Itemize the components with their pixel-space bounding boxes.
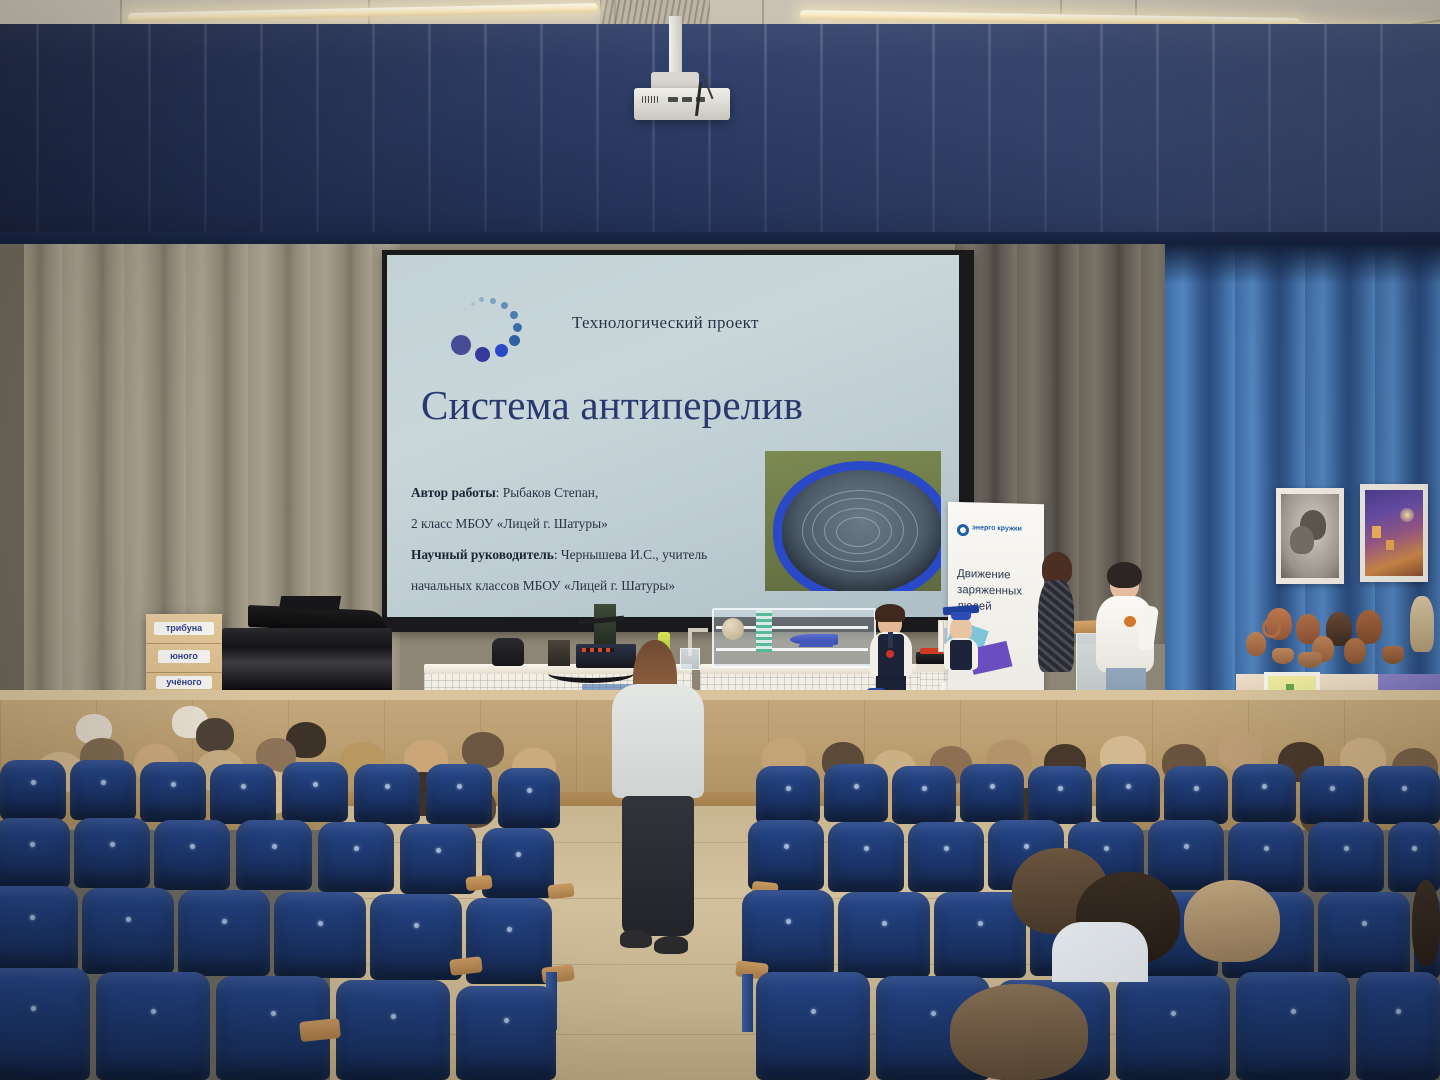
audience-seat[interactable] (824, 764, 888, 822)
audience-seat[interactable] (274, 892, 366, 978)
audience-seat[interactable] (82, 888, 174, 974)
water-basin (773, 461, 941, 591)
audience-shoulder-foreground (1052, 922, 1148, 982)
audience-seat[interactable] (370, 894, 462, 980)
spiral-dots-logo (445, 297, 529, 369)
clay-jug (1344, 638, 1366, 664)
painting-window-glow (1372, 526, 1381, 538)
kettle (492, 638, 524, 666)
audience-seat[interactable] (960, 764, 1024, 822)
audience-head-foreground (1412, 880, 1440, 966)
supervisor-value: Чернышева И.С., учитель (561, 547, 707, 562)
aisle-person-shoe (654, 936, 688, 954)
seat-armrest (547, 883, 574, 900)
artwork-pencil-portrait (1276, 488, 1344, 584)
artwork-night-street-painting (1360, 484, 1428, 582)
seat-armrest (299, 1018, 341, 1042)
grand-piano (222, 628, 392, 690)
wind-tunnel-rail (716, 648, 868, 651)
audience-seat[interactable] (748, 820, 824, 890)
audience-seat[interactable] (1028, 766, 1092, 824)
projection-screen: Технологический проект Система антиперел… (387, 255, 959, 617)
coffee-machine (548, 640, 570, 666)
stage-curtain-blue-right (1165, 244, 1440, 714)
3d-printer-indicator-lights (582, 648, 614, 652)
clay-pot (1246, 632, 1266, 656)
printer-cable (548, 664, 634, 683)
tap-fixture (688, 628, 708, 632)
audience-seat[interactable] (140, 762, 206, 822)
banner-logo-mark (960, 527, 966, 533)
piano-music-stand (279, 596, 341, 610)
audience-seat[interactable] (400, 824, 476, 894)
slide-kicker: Технологический проект (572, 313, 759, 333)
audience-seat[interactable] (426, 764, 492, 824)
projector (634, 88, 730, 120)
audience-seat[interactable] (318, 822, 394, 892)
aisle-person-trousers (622, 796, 694, 936)
banner-brand: энерго кружки (972, 524, 1032, 534)
audience-seat[interactable] (892, 766, 956, 824)
audience-seat[interactable] (1368, 766, 1440, 824)
audience-seat[interactable] (1308, 822, 1384, 892)
aisle-person-shirt (612, 684, 704, 798)
slide-body: Автор работы: Рыбаков Степан, 2 класс МБ… (411, 477, 767, 601)
audience-seat[interactable] (0, 968, 90, 1080)
staff-body (1038, 580, 1074, 672)
graduation-cap-crown (951, 612, 971, 620)
audience-seat[interactable] (756, 972, 870, 1080)
green-coil (756, 610, 772, 652)
painting-window-glow (1386, 540, 1394, 550)
author-class: 2 класс МБОУ «Лицей г. Шатуры» (411, 508, 767, 539)
author-value: Рыбаков Степан, (503, 485, 599, 500)
student-left-tie (888, 632, 893, 648)
audience-seat[interactable] (210, 764, 276, 824)
clay-bowl (1298, 652, 1322, 668)
beaker (680, 648, 700, 670)
clay-bowl (1272, 648, 1294, 664)
audience-seat[interactable] (1232, 764, 1296, 822)
audience-seat[interactable] (74, 818, 150, 888)
clay-pot-handle (1262, 618, 1281, 638)
presenter-brooch (1124, 616, 1136, 627)
audience-seat[interactable] (1388, 822, 1440, 892)
painting-lamp-glow (1400, 508, 1414, 522)
tribuna-label-line2: юного (158, 650, 210, 663)
slide-photo-basin (765, 451, 941, 591)
banner-headline-1: Движение (957, 568, 1011, 581)
wall-edge (0, 244, 24, 714)
audience-seat[interactable] (96, 972, 210, 1080)
clay-bowl (1382, 646, 1404, 664)
student-cap-vest (950, 640, 972, 670)
audience-seat[interactable] (1116, 976, 1230, 1080)
presenter-hair (1107, 562, 1142, 588)
projector-vent (642, 96, 658, 103)
slide-title: Система антиперелив (421, 381, 941, 429)
audience-seat[interactable] (236, 820, 312, 890)
student-left-badge (886, 650, 894, 658)
audience-seat[interactable] (0, 886, 78, 972)
audience-seat[interactable] (1096, 764, 1160, 822)
audience-head (462, 732, 504, 768)
projector-port (682, 97, 692, 102)
tribuna-label-line1: трибуна (154, 622, 214, 635)
sponsor-rollup-banner: энерго кружки Движение заряженных людей (948, 502, 1044, 701)
audience-seat[interactable] (838, 892, 930, 978)
supervisor-label: Научный руководитель (411, 547, 554, 562)
aisle-person-shoe (620, 930, 652, 948)
supervisor-class: начальных классов МБОУ «Лицей г. Шатуры» (411, 570, 767, 601)
audience-seat[interactable] (178, 890, 270, 976)
audience-seat[interactable] (282, 762, 348, 822)
clay-sculpture (1410, 596, 1434, 652)
audience-seat[interactable] (0, 760, 66, 820)
audience-seat[interactable] (1300, 766, 1364, 824)
audience-seat[interactable] (0, 818, 70, 888)
projector-port (668, 97, 678, 102)
sphere-model (722, 618, 744, 640)
audience-seat[interactable] (498, 768, 560, 828)
projection-screen-frame: Технологический проект Система антиперел… (382, 250, 974, 632)
audience-head (196, 718, 234, 752)
3d-printer-frame (594, 604, 616, 646)
audience-seat[interactable] (482, 828, 554, 898)
audience-seat[interactable] (456, 986, 556, 1080)
seat-post (742, 974, 753, 1032)
audience-head-foreground (950, 984, 1088, 1080)
audience-seat[interactable] (1164, 766, 1228, 824)
audience-seat[interactable] (828, 822, 904, 892)
audience-seat[interactable] (70, 760, 136, 820)
audience-seat[interactable] (154, 820, 230, 890)
audience-seat[interactable] (756, 766, 820, 824)
stage-valance (0, 24, 1440, 246)
author-label: Автор работы (411, 485, 496, 500)
seat-armrest (465, 875, 492, 892)
audience-head-foreground (1184, 880, 1280, 962)
audience-seat[interactable] (354, 764, 420, 824)
aircraft-wing (798, 641, 835, 647)
audience-seat[interactable] (908, 822, 984, 892)
audience-seat[interactable] (1236, 972, 1350, 1080)
audience-seat[interactable] (1318, 892, 1410, 978)
auditorium-photo: Технологический проект Система антиперел… (0, 0, 1440, 1080)
audience-seat[interactable] (1356, 972, 1440, 1080)
portrait-figure (1290, 526, 1314, 554)
tribuna-label-line3: учёного (156, 676, 212, 689)
student-left-hair (875, 604, 905, 622)
banner-headline-2: заряженных (957, 584, 1022, 598)
audience-seat[interactable] (336, 980, 450, 1080)
